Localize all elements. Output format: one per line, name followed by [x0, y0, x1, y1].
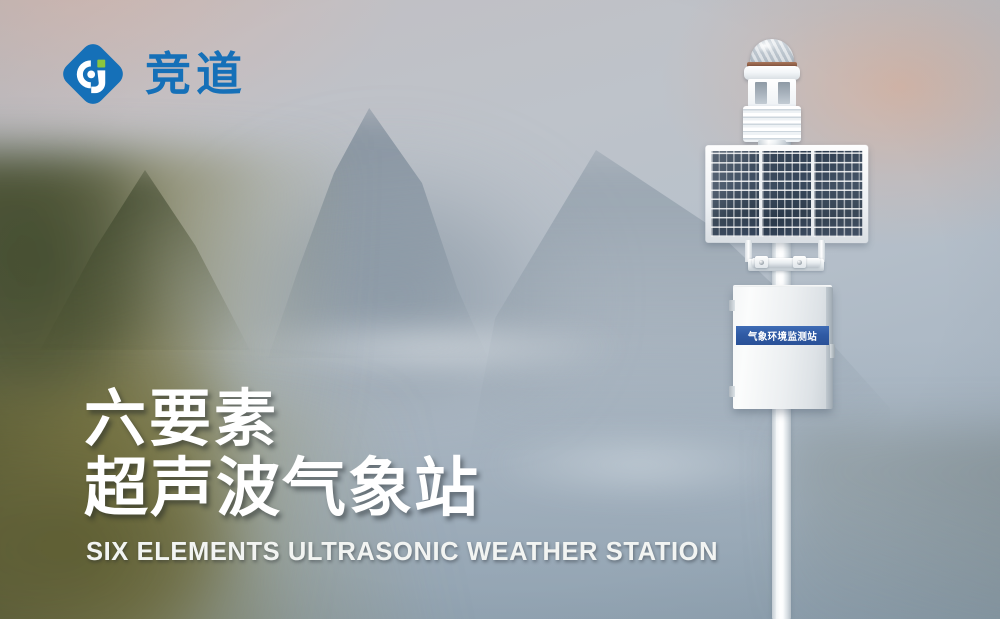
solar-panel-icon [705, 145, 868, 243]
enclosure-hinge-bottom [729, 386, 735, 397]
sensor-top-cap [744, 66, 800, 80]
solar-cell-column [814, 151, 863, 237]
jingdao-diamond-logo-icon [57, 38, 129, 110]
bracket-bolt-left [755, 256, 768, 268]
equipment-enclosure-icon [733, 287, 832, 409]
transducer-gap-left [755, 82, 767, 104]
enclosure-hinge-top [729, 300, 735, 311]
transducer-gap-right [778, 82, 790, 104]
solar-cell-column [762, 151, 810, 237]
bolt-head-icon [797, 260, 802, 265]
promotional-banner: 气象环境监测站 竞道 六要素 超声波气象站 SIX ELEMENTS ULTRA… [0, 0, 1000, 619]
headline-block: 六要素 超声波气象站 SIX ELEMENTS ULTRASONIC WEATH… [84, 386, 704, 567]
bracket-bolt-right [793, 256, 806, 268]
solar-cell-grid [711, 151, 862, 237]
brand-name: 竞道 [145, 51, 247, 97]
bolt-head-icon [759, 260, 764, 265]
headline-line-1: 六要素 [84, 386, 704, 452]
louvered-radiation-shield-icon [743, 106, 801, 142]
enclosure-latch [830, 344, 835, 358]
headline-subtitle: SIX ELEMENTS ULTRASONIC WEATHER STATION [86, 538, 704, 567]
solar-cell-column [711, 151, 759, 237]
equipment-box-label: 气象环境监测站 [736, 326, 829, 345]
equipment-box-label-text: 气象环境监测站 [748, 328, 817, 343]
headline-line-2: 超声波气象站 [84, 456, 704, 524]
brand-logo[interactable]: 竞道 [57, 38, 247, 110]
